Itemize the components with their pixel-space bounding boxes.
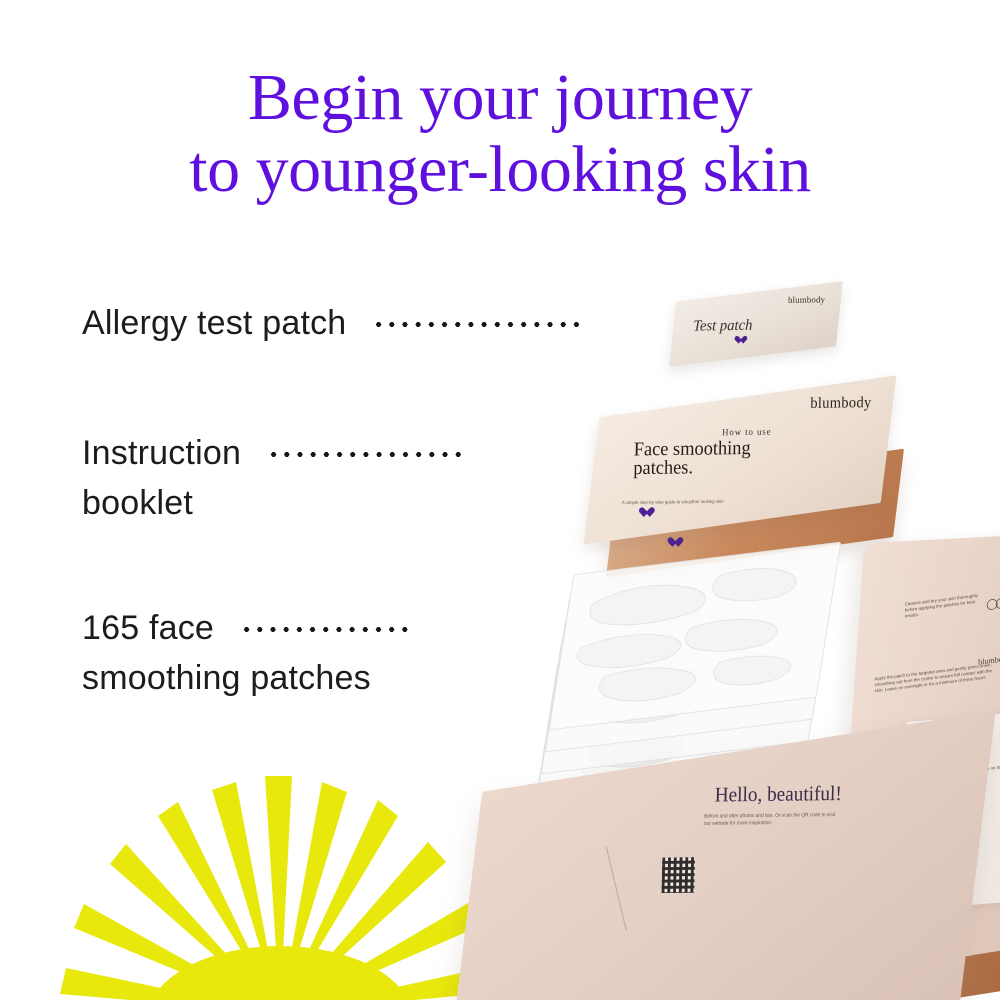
qr-code-icon xyxy=(662,857,695,893)
page-title: Begin your journey to younger-looking sk… xyxy=(0,62,1000,206)
product-photo: blumbody Test patch blumbody blumbody Ho… xyxy=(450,270,1000,1000)
brand-logo: blumbody xyxy=(810,395,872,413)
dotted-leader xyxy=(240,627,410,632)
heart-icon xyxy=(667,538,679,550)
card-fold-line xyxy=(606,846,627,931)
welcome-card: Hello, beautiful! Before and after photo… xyxy=(444,710,996,1000)
sunburst-icon xyxy=(60,768,500,1000)
booklet-title: Face smoothing patches. xyxy=(633,439,779,478)
dotted-leader xyxy=(267,452,467,457)
feature-label: Instruction xyxy=(82,430,241,476)
feature-label: 165 face xyxy=(82,605,214,651)
booklet-body-text: Cleanse and dry your skin thoroughly bef… xyxy=(905,591,990,645)
heart-icon xyxy=(734,336,744,345)
sachet-title: Test patch xyxy=(693,317,753,335)
test-patch-sachet: blumbody Test patch xyxy=(669,281,843,367)
feature-label: Allergy test patch xyxy=(82,300,346,346)
promo-image: Begin your journey to younger-looking sk… xyxy=(0,0,1000,1000)
headline-line-2: to younger-looking skin xyxy=(0,134,1000,206)
brand-logo: blumbody xyxy=(788,294,825,305)
card-subtitle: Before and after photos and tips. Or sca… xyxy=(704,812,839,828)
booklet-kicker: How to use xyxy=(722,426,772,437)
headline-line-1: Begin your journey xyxy=(0,62,1000,134)
card-greeting: Hello, beautiful! xyxy=(715,782,842,807)
heart-icon xyxy=(638,508,650,520)
